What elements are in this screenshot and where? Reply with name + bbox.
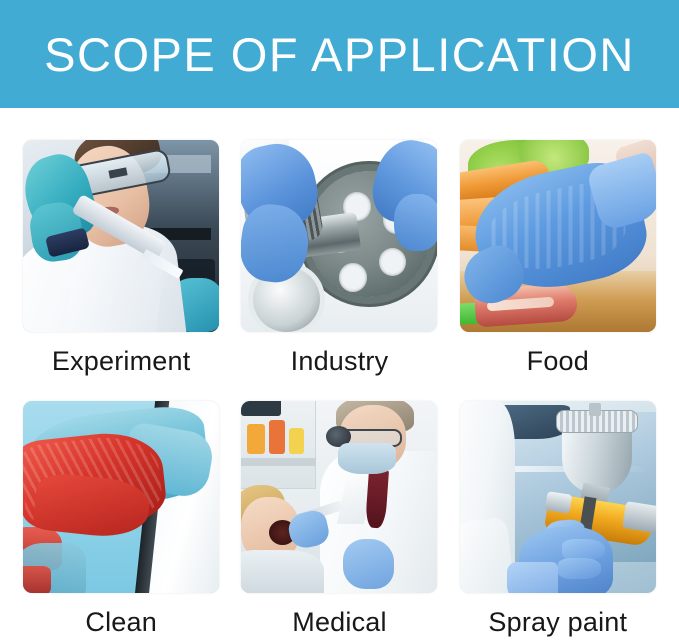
card-label-experiment: Experiment <box>52 347 191 377</box>
application-card-experiment[interactable]: Experiment <box>12 108 230 377</box>
scientist-pipette-photo <box>23 140 219 332</box>
header-banner: SCOPE OF APPLICATION <box>0 0 679 108</box>
card-label-medical: Medical <box>292 608 386 638</box>
card-label-food: Food <box>527 347 589 377</box>
gear-assembly-photo <box>241 140 437 332</box>
card-label-industry: Industry <box>291 347 389 377</box>
window-cleaning-photo <box>23 401 219 593</box>
application-card-spray-paint[interactable]: Spray paint <box>449 377 667 641</box>
application-card-grid: Experiment <box>0 108 679 641</box>
spray-gun-photo <box>460 401 656 593</box>
dental-exam-photo <box>241 401 437 593</box>
application-card-industry[interactable]: Industry <box>230 108 448 377</box>
application-card-food[interactable]: Food <box>449 108 667 377</box>
application-card-medical[interactable]: Medical <box>230 377 448 641</box>
scope-of-application-banner: SCOPE OF APPLICATION <box>0 0 679 641</box>
page-title: SCOPE OF APPLICATION <box>44 27 635 82</box>
card-label-spray-paint: Spray paint <box>488 608 627 638</box>
application-card-clean[interactable]: Clean <box>12 377 230 641</box>
food-handling-photo <box>460 140 656 332</box>
card-label-clean: Clean <box>85 608 157 638</box>
